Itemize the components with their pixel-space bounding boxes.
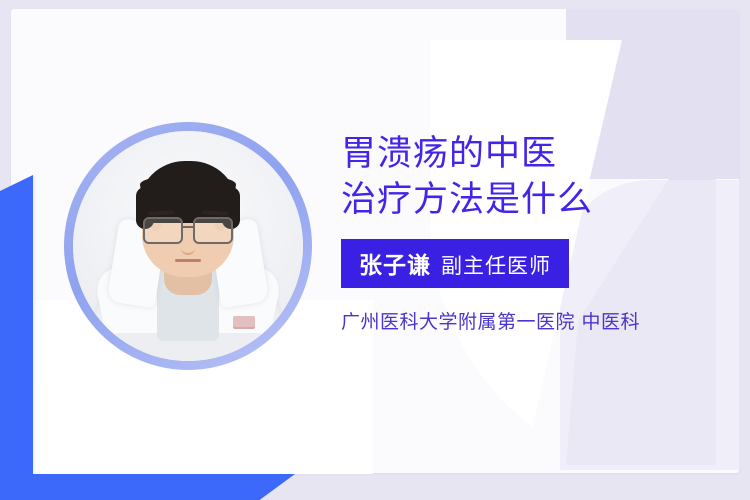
decoration-left-blue-bar: [0, 175, 33, 500]
portrait-nose: [181, 241, 195, 255]
glasses-icon: [141, 217, 235, 241]
portrait-name-tag: [233, 316, 255, 327]
portrait-mouth: [175, 259, 201, 262]
page-title: 胃溃疡的中医 治疗方法是什么: [341, 131, 733, 223]
avatar: [64, 122, 312, 370]
doctor-affiliation: 广州医科大学附属第一医院 中医科: [341, 307, 733, 334]
card-text-column: 胃溃疡的中医 治疗方法是什么 张子谦副主任医师 广州医科大学附属第一医院 中医科: [341, 131, 733, 334]
doctor-info-card: 胃溃疡的中医 治疗方法是什么 张子谦副主任医师 广州医科大学附属第一医院 中医科: [0, 0, 750, 500]
doctor-rank: 副主任医师: [441, 254, 551, 278]
doctor-name: 张子谦: [359, 253, 431, 279]
portrait-fringe: [140, 177, 236, 201]
portrait-lens-right: [193, 217, 233, 244]
doctor-name-badge: 张子谦副主任医师: [341, 239, 569, 288]
portrait-bridge: [181, 226, 195, 228]
avatar-inner: [73, 131, 303, 361]
decoration-bottom-blue-strip: [0, 474, 295, 500]
decoration-bar-shadow: [33, 175, 37, 474]
doctor-portrait-photo: [73, 131, 303, 361]
portrait-lens-left: [143, 217, 183, 244]
